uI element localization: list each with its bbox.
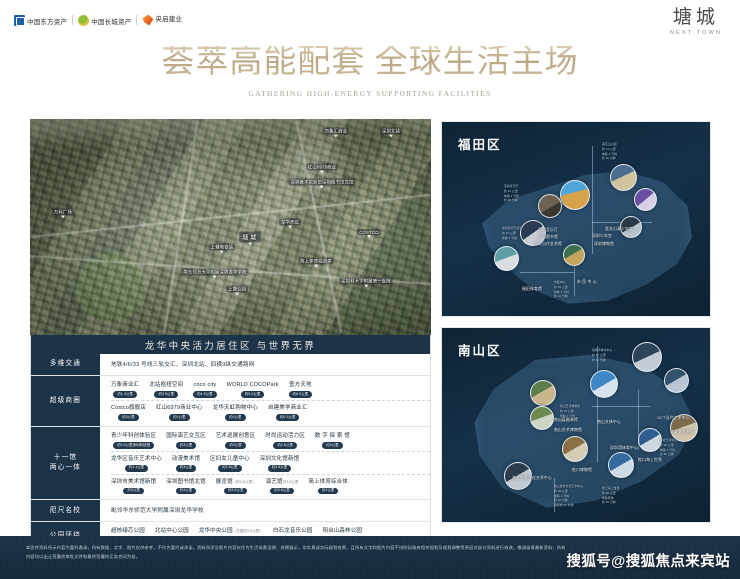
map-landmark-label: 南山艺术博物馆 bbox=[554, 428, 582, 433]
map-landmark-label: 深圳湾体育中心 bbox=[610, 446, 638, 451]
map-callout-detail-line: 约 14 公里 bbox=[602, 147, 617, 152]
map-landmark-label: 华夏艺术中心 bbox=[670, 430, 694, 435]
map-callout-detail: 市民中心约 15 公里地铁 4 号线约 32 分钟 bbox=[554, 280, 569, 299]
facility-note: （在建约0.5公里） bbox=[233, 529, 263, 533]
facility-name: 区妇女儿童中心 bbox=[210, 455, 250, 464]
facility-chip[interactable]: 简上体育综合体约2公里 bbox=[308, 478, 348, 495]
map-callout-detail: 莲花山公园约 14 公里地铁 4 号线约 30 分钟 bbox=[602, 142, 617, 161]
map-photo-bubble[interactable] bbox=[664, 368, 689, 393]
facility-name: 白石龙音乐公园 bbox=[273, 527, 313, 536]
aerial-poi-label: 深圳科大学附属第一医院 bbox=[339, 278, 392, 285]
facility-name: 艺术巡展创意区 bbox=[216, 432, 256, 441]
table-chip-row: Costco旗舰店约3公里红山6979商业中心约1公里龙华天虹购物中心约1公里自… bbox=[111, 401, 430, 423]
map-landmark-label: 海上世界文化艺术中心 bbox=[512, 476, 552, 481]
facility-distance-badge: 约3.5公里 bbox=[268, 465, 292, 472]
map-callout-detail-line: 约 15 公里 bbox=[554, 285, 569, 290]
logo-jianye: 央启建业 bbox=[142, 15, 182, 26]
facility-chip[interactable]: 时尚运动活力区约2.8公里 bbox=[265, 432, 305, 449]
map-callout-detail-line: 自驾约 40 分钟 bbox=[554, 503, 583, 508]
table-row-body: 青少年科创体验区约3.5公里深圳科技馆国际演艺交互区约3公里艺术巡展创意区约3公… bbox=[103, 427, 430, 500]
table-row: 超级商圈万象商业汇约1.4公里北站枢纽空间约3.5公里coco city约4.5… bbox=[31, 375, 430, 426]
watermark-label: 搜狐号@搜狐焦点来宾站 bbox=[566, 550, 730, 571]
partner-logos: 中国东方资产 中国长城资产 央启建业 bbox=[14, 11, 182, 29]
map-callout-detail: 海上世界文化艺术中心约 25 公里地铁 4 号线约 52 分钟自驾约 40 分钟 bbox=[554, 484, 583, 508]
map-callout-detail-line: 约 30 分钟 bbox=[504, 198, 519, 203]
facility-chip[interactable]: 青少年科创体验区约3.5公里深圳科技馆 bbox=[111, 432, 156, 449]
aerial-poi-label: 深圳美术馆新馆深圳图书馆北馆 bbox=[289, 179, 356, 186]
facility-chip[interactable]: 艺术巡展创意区约3公里 bbox=[216, 432, 256, 449]
facility-chip[interactable]: 龙华区音乐艺术中心约1.1公里 bbox=[111, 455, 162, 472]
header-bar: 中国东方资产 中国长城资产 央启建业 塘城 NEXT TOWN bbox=[0, 0, 740, 40]
facility-distance-badge: 约1公里 bbox=[169, 414, 189, 421]
map-connector-line bbox=[520, 272, 574, 273]
map-callout-detail: 深圳音乐厅约 15 公里地铁 4 号线约 30 分钟 bbox=[504, 184, 519, 203]
map-landmark-label: 南山文体中心 bbox=[597, 420, 621, 425]
facility-distance-badge: 约3.5公里 bbox=[154, 391, 178, 398]
map-photo-bubble[interactable] bbox=[563, 244, 585, 266]
table-row: 多维交通地铁4/6/33 号线三轨交汇、深圳北站、四横9纵交通路网 bbox=[31, 354, 430, 375]
facility-distance-badge: 约4公里 bbox=[322, 442, 342, 449]
map-photo-bubble[interactable] bbox=[538, 194, 562, 218]
facility-distance-badge: 约2.8公里 bbox=[273, 442, 297, 449]
logo-great-wall-asset: 中国长城资产 bbox=[78, 11, 131, 29]
facility-name: 红山6979商业中心 bbox=[156, 404, 203, 413]
facility-name: 壹方天地 bbox=[289, 381, 312, 390]
map-landmark-label: 深圳博物馆 bbox=[594, 242, 614, 247]
map-callout-detail: 深圳湾体育中心约 20 公里约 40 分钟 bbox=[592, 348, 612, 362]
facility-name: 自建美学商业汇 bbox=[268, 404, 308, 413]
table-row-body: 毗邻华东师范大学附属深圳龙华学校 bbox=[103, 500, 430, 521]
map-landmark-label: 深圳少年宫 bbox=[592, 234, 612, 239]
table-row-body: 地铁4/6/33 号线三轨交汇、深圳北站、四横9纵交通路网 bbox=[103, 354, 430, 375]
map-callout-detail-line: 约 30 分钟 bbox=[602, 156, 617, 161]
facility-name: 深圳文化馆新馆 bbox=[260, 455, 300, 464]
facility-distance-badge: 约3公里 bbox=[176, 488, 196, 495]
map-landmark-label: 市 民 中 心 bbox=[577, 280, 597, 285]
facility-chip[interactable]: 万象商业汇约1.4公里 bbox=[111, 381, 139, 398]
map-photo-bubble[interactable] bbox=[634, 188, 657, 211]
table-cell-text: 毗邻华东师范大学附属深圳龙华学校 bbox=[111, 502, 430, 518]
facility-chip[interactable]: 龙华天虹购物中心约1公里 bbox=[213, 404, 258, 421]
facility-name: 青少年科创体验区 bbox=[111, 432, 156, 441]
facility-chip[interactable]: 壹方天地约6.0公里 bbox=[289, 381, 313, 398]
facility-name: 演艺馆约3.8公里 bbox=[266, 478, 299, 487]
facility-name: coco city bbox=[194, 381, 217, 390]
facility-chip[interactable]: 红山6979商业中心约1公里 bbox=[156, 404, 203, 421]
oriental-asset-logo-mark bbox=[14, 15, 25, 26]
aerial-poi-label: 万科广场 bbox=[52, 209, 74, 216]
logo-oriental-asset: 中国东方资产 bbox=[14, 11, 67, 29]
table-cell-text: 地铁4/6/33 号线三轨交汇、深圳北站、四横9纵交通路网 bbox=[111, 356, 430, 372]
left-column: 塘城万象汇商业深圳北站红山6979商业深圳美术馆新馆深圳图书馆北馆万科广场上塘地… bbox=[30, 119, 431, 558]
logo-name: 中国东方资产 bbox=[27, 19, 67, 26]
table-row: 十一馆两心一体青少年科创体验区约3.5公里深圳科技馆国际演艺交互区约3公里艺术巡… bbox=[31, 426, 430, 500]
facility-chip[interactable]: 动漫美术馆约3公里 bbox=[172, 455, 200, 472]
map-photo-bubble[interactable] bbox=[608, 452, 634, 478]
facility-name: 数 字 探 索 馆 bbox=[315, 432, 350, 441]
facility-name: 简上体育综合体 bbox=[308, 478, 348, 487]
aerial-poi-label: 红山6979商业 bbox=[306, 164, 338, 171]
facility-chip[interactable]: 国际演艺交互区约3公里 bbox=[166, 432, 206, 449]
map-callout-detail-line: 约 32 分钟 bbox=[554, 294, 569, 299]
facility-distance-badge: 约6.0公里 bbox=[289, 391, 313, 398]
facility-distance-badge: 约1.4公里 bbox=[113, 391, 137, 398]
table-row-label: 多维交通 bbox=[31, 354, 103, 375]
map-connector-line bbox=[592, 406, 650, 407]
logo-name: 央启建业 bbox=[155, 17, 182, 24]
facility-chip[interactable]: Costco旗舰店约3公里 bbox=[111, 404, 146, 421]
map-landmark-label: 莲花山青少年宫 bbox=[605, 227, 633, 232]
aerial-poi-label: 简上体育综合体 bbox=[298, 258, 333, 265]
aerial-poi-label: 万象汇商业 bbox=[323, 128, 349, 135]
great-wall-asset-logo-mark bbox=[78, 15, 89, 26]
aerial-poi-label: 上塘公园 bbox=[226, 286, 248, 293]
table-row-label-line: 十一馆 bbox=[54, 453, 77, 463]
map-landmark-label: 深圳图书馆 bbox=[538, 235, 558, 240]
facility-chip[interactable]: 数 字 探 索 馆约4公里 bbox=[315, 432, 350, 449]
facility-distance-badge: 约3公里 bbox=[176, 442, 196, 449]
map-callout-detail-line: 约 48 分钟 bbox=[660, 452, 677, 457]
map-title: 南山区 bbox=[458, 340, 502, 359]
facility-name: 深圳图书馆北馆 bbox=[166, 478, 206, 487]
facility-distance-badge: 约0.3公里 bbox=[276, 414, 300, 421]
map-photo-bubble[interactable] bbox=[632, 342, 662, 372]
facility-note: （约3.5公里） bbox=[233, 480, 256, 484]
map-callout-detail-line: 约 40 分钟 bbox=[592, 358, 612, 363]
facility-chip[interactable]: 自建美学商业汇约0.3公里 bbox=[268, 404, 308, 421]
brand-name-cn: 塘城 bbox=[670, 8, 722, 28]
facility-distance-badge: 约5.0公里 bbox=[241, 391, 265, 398]
facilities-table: 龙华中央活力居住区 与世界无界 多维交通地铁4/6/33 号线三轨交汇、深圳北站… bbox=[30, 335, 431, 550]
facility-chip[interactable]: 北站枢纽空间约3.5公里 bbox=[149, 381, 183, 398]
facility-name: 展览馆（约3.5公里） bbox=[216, 478, 256, 487]
aerial-poi-label: 上塘地铁站 bbox=[209, 244, 235, 251]
map-connector-line bbox=[597, 346, 598, 462]
map-photo-bubble[interactable] bbox=[560, 180, 590, 210]
map-panel-futian[interactable]: 福田区 深圳音乐厅约 15 公里地铁 4 号线约 30 分钟深圳当代艺术馆约 1… bbox=[441, 121, 711, 317]
aerial-poi-label: 龙华天虹 bbox=[279, 219, 301, 226]
table-rows-container: 多维交通地铁4/6/33 号线三轨交汇、深圳北站、四横9纵交通路网超级商圈万象商… bbox=[31, 354, 430, 549]
facility-distance-badge: 约2.5公里 bbox=[218, 465, 242, 472]
footer-bar: 本宣传资料所示内容为要约邀请，所有数据、文字、图片仅供参考，不作为要约或承诺。资… bbox=[0, 536, 740, 579]
facility-name: 阳台山森林公园 bbox=[322, 527, 362, 536]
disclaimer-text: 本宣传资料所示内容为要约邀请，所有数据、文字、图片仅供参考，不作为要约或承诺。资… bbox=[26, 544, 566, 561]
map-callout-detail: 蛇口海上世界约 26 公里地铁转乘约 55 分钟 bbox=[602, 486, 619, 505]
map-callout-detail: 华夏艺术中心约 22 公里地铁 4 号线约 48 分钟 bbox=[660, 438, 677, 457]
table-row-label: 十一馆两心一体 bbox=[31, 427, 103, 500]
facility-chip[interactable]: 展览馆（约3.5公里）约3.5公里 bbox=[216, 478, 256, 495]
facility-name: 北站中心公园 bbox=[155, 527, 189, 536]
map-callout-detail: 深圳当代艺术馆约 15 公里地铁 4 号线 bbox=[502, 226, 522, 240]
facility-name: 龙华天虹购物中心 bbox=[213, 404, 258, 413]
facility-name: 龙华中央公园（在建约0.5公里） bbox=[199, 527, 263, 536]
table-title: 龙华中央活力居住区 与世界无界 bbox=[31, 335, 430, 354]
table-chip-row: 深圳市美术馆新馆约3公里深圳图书馆北馆约3公里展览馆（约3.5公里）约3.5公里… bbox=[111, 475, 430, 497]
map-landmark-label: 福田体育馆 bbox=[522, 287, 542, 292]
table-chip-row: 万象商业汇约1.4公里北站枢纽空间约3.5公里coco city约4.5公里WO… bbox=[111, 378, 430, 401]
facility-name: 龙华区音乐艺术中心 bbox=[111, 455, 162, 464]
facility-chip[interactable]: coco city约4.5公里 bbox=[193, 381, 217, 398]
map-photo-bubble[interactable] bbox=[590, 370, 618, 398]
facility-chip[interactable]: 深圳市美术馆新馆约3公里 bbox=[111, 478, 156, 495]
poster-page: 中国东方资产 中国长城资产 央启建业 塘城 NEXT TOWN 荟萃高能配套 全… bbox=[0, 0, 740, 579]
facility-distance-badge: 约4.5公里 bbox=[193, 391, 217, 398]
facility-name: WORLD COCOPark bbox=[227, 381, 279, 390]
logo-divider bbox=[136, 15, 137, 25]
map-landmark-label: 深圳当代艺术馆 bbox=[534, 242, 562, 247]
map-photo-bubble[interactable] bbox=[530, 406, 554, 430]
table-row-label: 超级商圈 bbox=[31, 376, 103, 426]
facility-chip[interactable]: 区妇女儿童中心约2.5公里 bbox=[210, 455, 250, 472]
map-landmark-label: 深圳音乐厅 bbox=[538, 228, 558, 233]
aerial-poi-label: 深圳北站 bbox=[380, 128, 402, 135]
table-row-label-line: 两心一体 bbox=[50, 463, 81, 473]
facility-distance-badge: 约1公里 bbox=[225, 414, 245, 421]
facility-chip[interactable]: WORLD COCOPark约5.0公里 bbox=[227, 381, 279, 398]
map-landmark-label: 蛇口海上世界 bbox=[638, 458, 662, 463]
jianye-logo-mark bbox=[142, 15, 153, 26]
facility-name: 时尚运动活力区 bbox=[265, 432, 305, 441]
facility-distance-badge: 约3公里 bbox=[118, 414, 138, 421]
map-photo-bubble[interactable] bbox=[530, 380, 556, 406]
page-subtitle: GATHERING HIGH-ENERGY SUPPORTING FACILIT… bbox=[0, 89, 740, 98]
facility-note: 约3.8公里 bbox=[283, 480, 299, 484]
facility-distance-badge: 约3公里 bbox=[123, 488, 143, 495]
facility-distance-badge: 约3.5公里深圳科技馆 bbox=[113, 442, 154, 449]
map-photo-bubble[interactable] bbox=[610, 164, 637, 191]
hero-title-block: 荟萃高能配套 全球生活主场 GATHERING HIGH-ENERGY SUPP… bbox=[0, 46, 740, 98]
facility-distance-badge: 约3公里 bbox=[225, 442, 245, 449]
logo-text-group: 中国长城资产 bbox=[91, 11, 131, 29]
facility-name: 超核绿芯公园 bbox=[111, 527, 145, 536]
table-row-body: 万象商业汇约1.4公里北站枢纽空间约3.5公里coco city约4.5公里WO… bbox=[103, 376, 430, 426]
aerial-map-photo: 塘城万象汇商业深圳北站红山6979商业深圳美术馆新馆深圳图书馆北馆万科广场上塘地… bbox=[30, 119, 431, 335]
facility-distance-badge: 约3.8公里 bbox=[270, 488, 294, 495]
facility-distance-badge: 约2公里 bbox=[318, 488, 338, 495]
facility-name: 国际演艺交互区 bbox=[166, 432, 206, 441]
map-landmark-label: 蛇口博物馆 bbox=[572, 468, 592, 473]
facility-name: 深圳市美术馆新馆 bbox=[111, 478, 156, 487]
facility-name: 万象商业汇 bbox=[111, 381, 139, 390]
facility-name: 动漫美术馆 bbox=[172, 455, 200, 464]
road-line bbox=[296, 121, 343, 333]
map-photo-bubble[interactable] bbox=[638, 428, 662, 452]
map-title: 福田区 bbox=[458, 134, 502, 153]
logo-text-group: 中国东方资产 bbox=[27, 11, 67, 29]
map-landmark-label: 南山区图书馆 bbox=[554, 418, 578, 423]
table-row-label: 咫尺名校 bbox=[31, 500, 103, 521]
facility-name: Costco旗舰店 bbox=[111, 404, 146, 413]
aerial-poi-label: COSTCO bbox=[357, 229, 381, 235]
facility-chip[interactable]: 深圳文化馆新馆约3.5公里 bbox=[260, 455, 300, 472]
aerial-poi-label: 华东师范大学附属深圳龙华学校 bbox=[182, 269, 249, 276]
map-callout-detail-line: 地铁 4 号线 bbox=[502, 236, 522, 241]
map-photo-bubble[interactable] bbox=[562, 436, 588, 462]
aerial-poi-label: 塘城 bbox=[239, 232, 261, 243]
facility-distance-badge: 约1.1公里 bbox=[125, 465, 149, 472]
facility-chip[interactable]: 深圳图书馆北馆约3公里 bbox=[166, 478, 206, 495]
table-row: 咫尺名校毗邻华东师范大学附属深圳龙华学校 bbox=[31, 499, 430, 521]
table-chip-row: 青少年科创体验区约3.5公里深圳科技馆国际演艺交互区约3公里艺术巡展创意区约3公… bbox=[111, 429, 430, 452]
facility-name: 北站枢纽空间 bbox=[149, 381, 183, 390]
road-line bbox=[163, 120, 199, 334]
page-title: 荟萃高能配套 全球生活主场 bbox=[0, 46, 740, 79]
table-chip-row: 龙华区音乐艺术中心约1.1公里动漫美术馆约3公里区妇女儿童中心约2.5公里深圳文… bbox=[111, 452, 430, 475]
brand-name-en: NEXT TOWN bbox=[670, 30, 722, 36]
facility-chip[interactable]: 演艺馆约3.8公里约3.8公里 bbox=[266, 478, 299, 495]
map-callout-detail-line: 约 55 分钟 bbox=[602, 500, 619, 505]
project-brand-logo: 塘城 NEXT TOWN bbox=[670, 8, 722, 36]
logo-name: 中国长城资产 bbox=[91, 19, 131, 26]
map-landmark-label: OCT当代艺术中心 bbox=[657, 416, 690, 421]
facility-distance-badge: 约3.5公里 bbox=[224, 488, 248, 495]
map-photo-bubble[interactable] bbox=[494, 246, 519, 271]
facility-distance-badge: 约3公里 bbox=[176, 465, 196, 472]
map-panel-nanshan[interactable]: 南山区 深圳湾体育中心约 20 公里约 40 分钟南山艺术博物馆约 23 公里地… bbox=[441, 327, 711, 523]
map-callout-detail-line: 约 15 公里 bbox=[504, 189, 519, 194]
logo-divider bbox=[72, 15, 73, 25]
